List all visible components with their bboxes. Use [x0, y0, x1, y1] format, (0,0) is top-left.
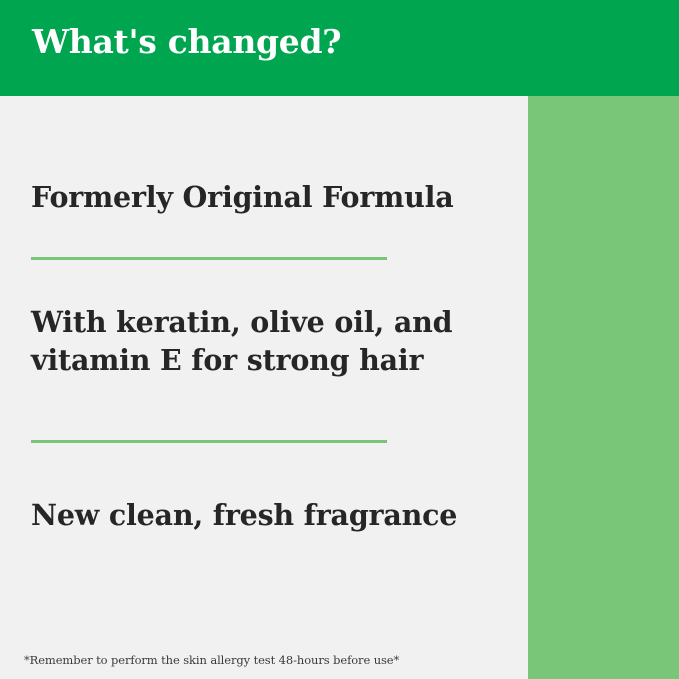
content-column: Formerly Original Formula With keratin, …	[0, 96, 528, 679]
footnote-text: *Remember to perform the skin allergy te…	[24, 652, 504, 668]
header-bar: What's changed?	[0, 0, 679, 96]
right-green-band	[528, 0, 679, 679]
feature-item-3: New clean, fresh fragrance	[31, 496, 501, 534]
divider-2	[31, 440, 387, 443]
divider-1	[31, 257, 387, 260]
page-title: What's changed?	[32, 22, 341, 61]
feature-item-2: With keratin, olive oil, and vitamin E f…	[31, 303, 501, 379]
feature-item-1: Formerly Original Formula	[31, 178, 501, 216]
infographic-page: What's changed? Formerly Original Formul…	[0, 0, 679, 679]
